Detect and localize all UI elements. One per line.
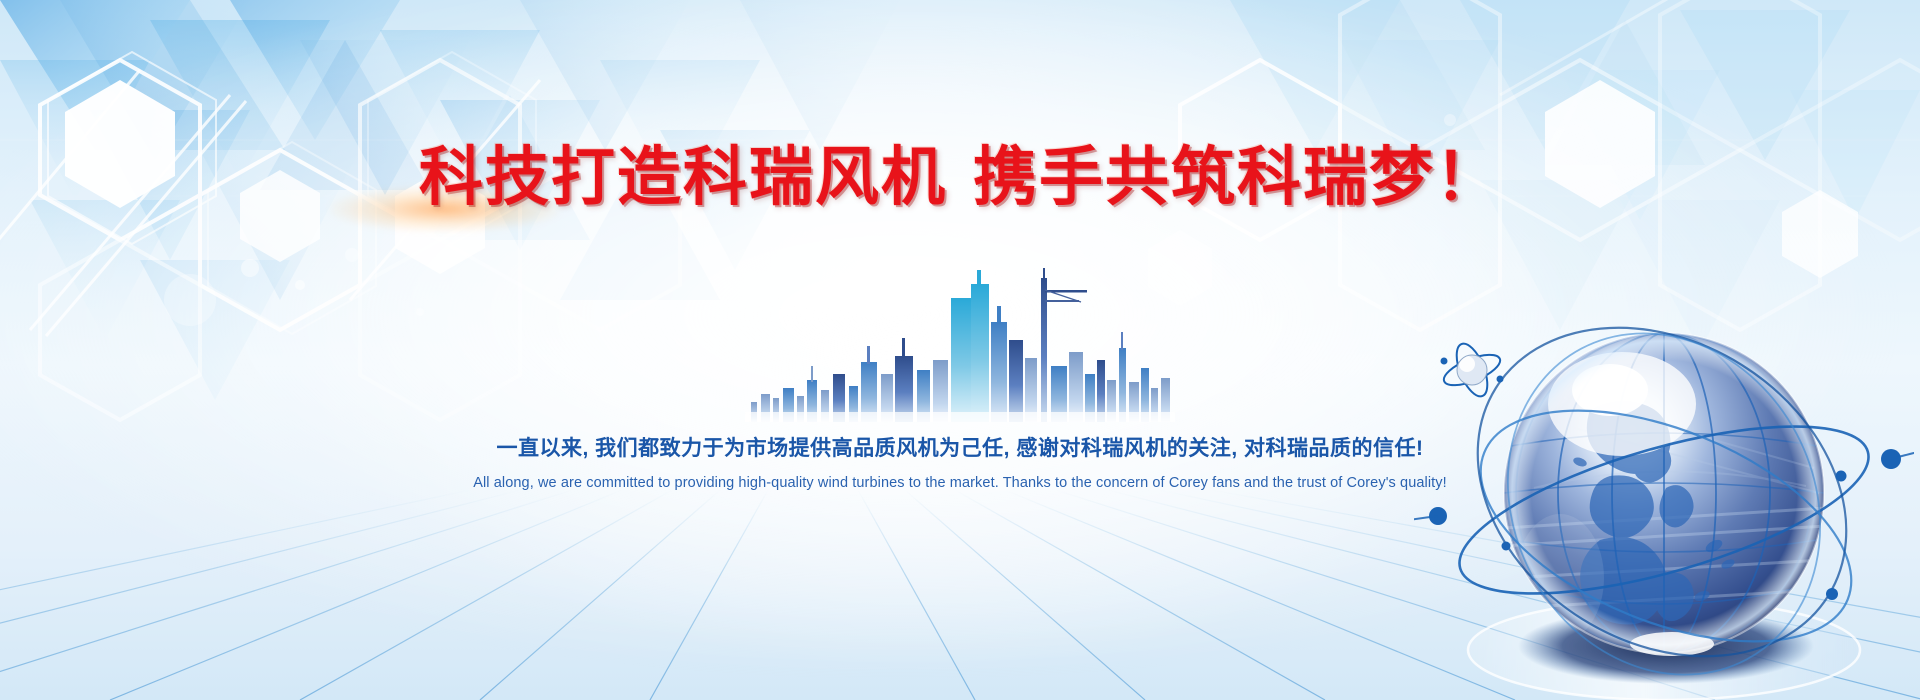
hexagon-network-icon <box>0 0 1920 700</box>
headline-segment-1: 科技打造科瑞风机 <box>419 141 947 213</box>
subtitle-english: All along, we are committed to providing… <box>0 475 1920 491</box>
city-skyline-icon <box>745 262 1175 422</box>
promo-banner: 科技打造科瑞风机携手共筑科瑞梦！ <box>0 0 1920 700</box>
subtitle-chinese: 一直以来, 我们都致力于为市场提供高品质风机为己任, 感谢对科瑞风机的关注, 对… <box>0 432 1920 462</box>
perspective-grid-icon <box>0 490 1920 700</box>
headline-segment-2: 携手共筑科瑞梦！ <box>973 141 1501 213</box>
page-title: 科技打造科瑞风机携手共筑科瑞梦！ <box>0 126 1920 218</box>
satellite-orbit-icon <box>1440 340 1504 401</box>
